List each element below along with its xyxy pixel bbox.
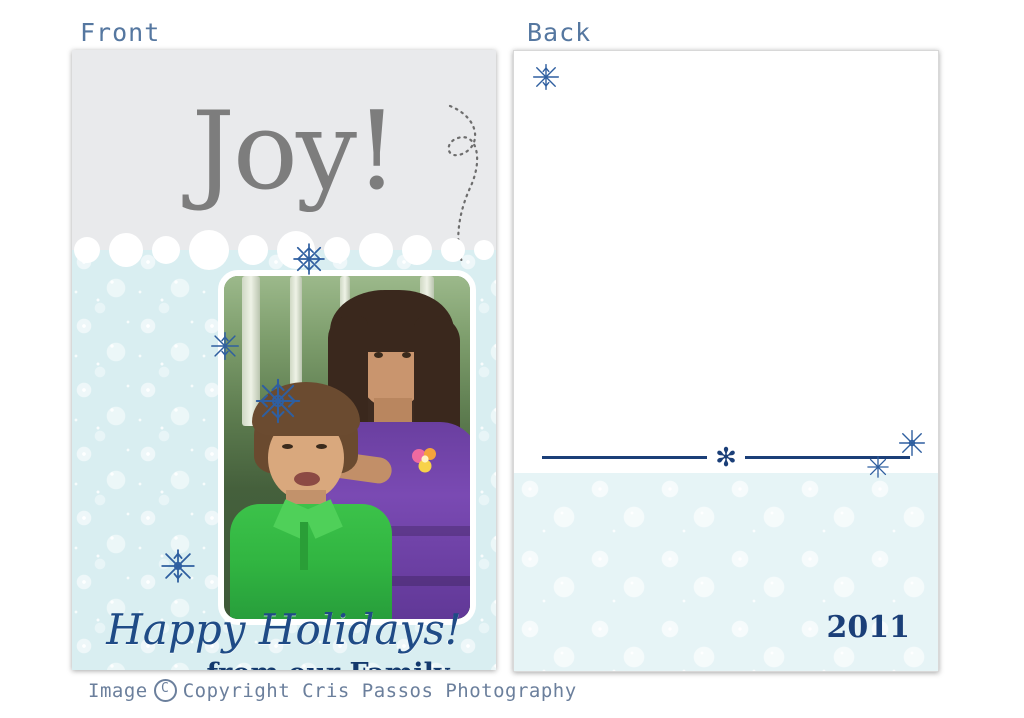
photo-boy-eye: [282, 444, 293, 449]
copyright-icon: C: [154, 679, 177, 702]
scallop-dot: [402, 235, 432, 265]
scallop-divider: [72, 226, 496, 274]
photo-flower-icon: [408, 444, 442, 478]
back-card[interactable]: ✻ 2011: [513, 50, 939, 672]
scallop-dot: [441, 238, 465, 262]
photo-girl-eye: [402, 352, 411, 358]
scallop-dot: [277, 231, 315, 269]
copyright-credit: Image C Copyright Cris Passos Photograph…: [88, 679, 577, 702]
back-card-year: 2011: [827, 610, 911, 645]
front-headline: Joy!: [72, 98, 496, 206]
back-card-divider: ✻: [542, 441, 910, 473]
divider-line-left: [542, 456, 707, 459]
front-greeting: Happy Holidays!: [72, 605, 496, 654]
back-panel-label: Back: [527, 18, 591, 47]
scallop-dot: [152, 236, 180, 264]
front-card[interactable]: Joy!: [72, 50, 496, 670]
scallop-dot: [109, 233, 143, 267]
credit-prefix: Image: [88, 680, 148, 702]
divider-star-icon: ✻: [715, 444, 737, 470]
back-card-message-area[interactable]: [514, 51, 938, 473]
photo-boy-eye: [316, 444, 327, 449]
scallop-dot: [74, 237, 100, 263]
divider-line-right: [745, 456, 910, 459]
photo-boy-placket: [300, 522, 308, 570]
scallop-dot: [324, 237, 350, 263]
front-panel-label: Front: [80, 18, 160, 47]
scallop-dot: [189, 230, 229, 270]
scallop-dot: [238, 235, 268, 265]
photo-girl-eye: [374, 352, 383, 358]
front-signoff: from our Family: [72, 658, 496, 670]
photo-boy-mouth: [294, 472, 320, 486]
scallop-dot: [359, 233, 393, 267]
scallop-dot: [474, 240, 494, 260]
front-card-photo[interactable]: [218, 270, 476, 625]
credit-text: Copyright Cris Passos Photography: [183, 680, 577, 702]
